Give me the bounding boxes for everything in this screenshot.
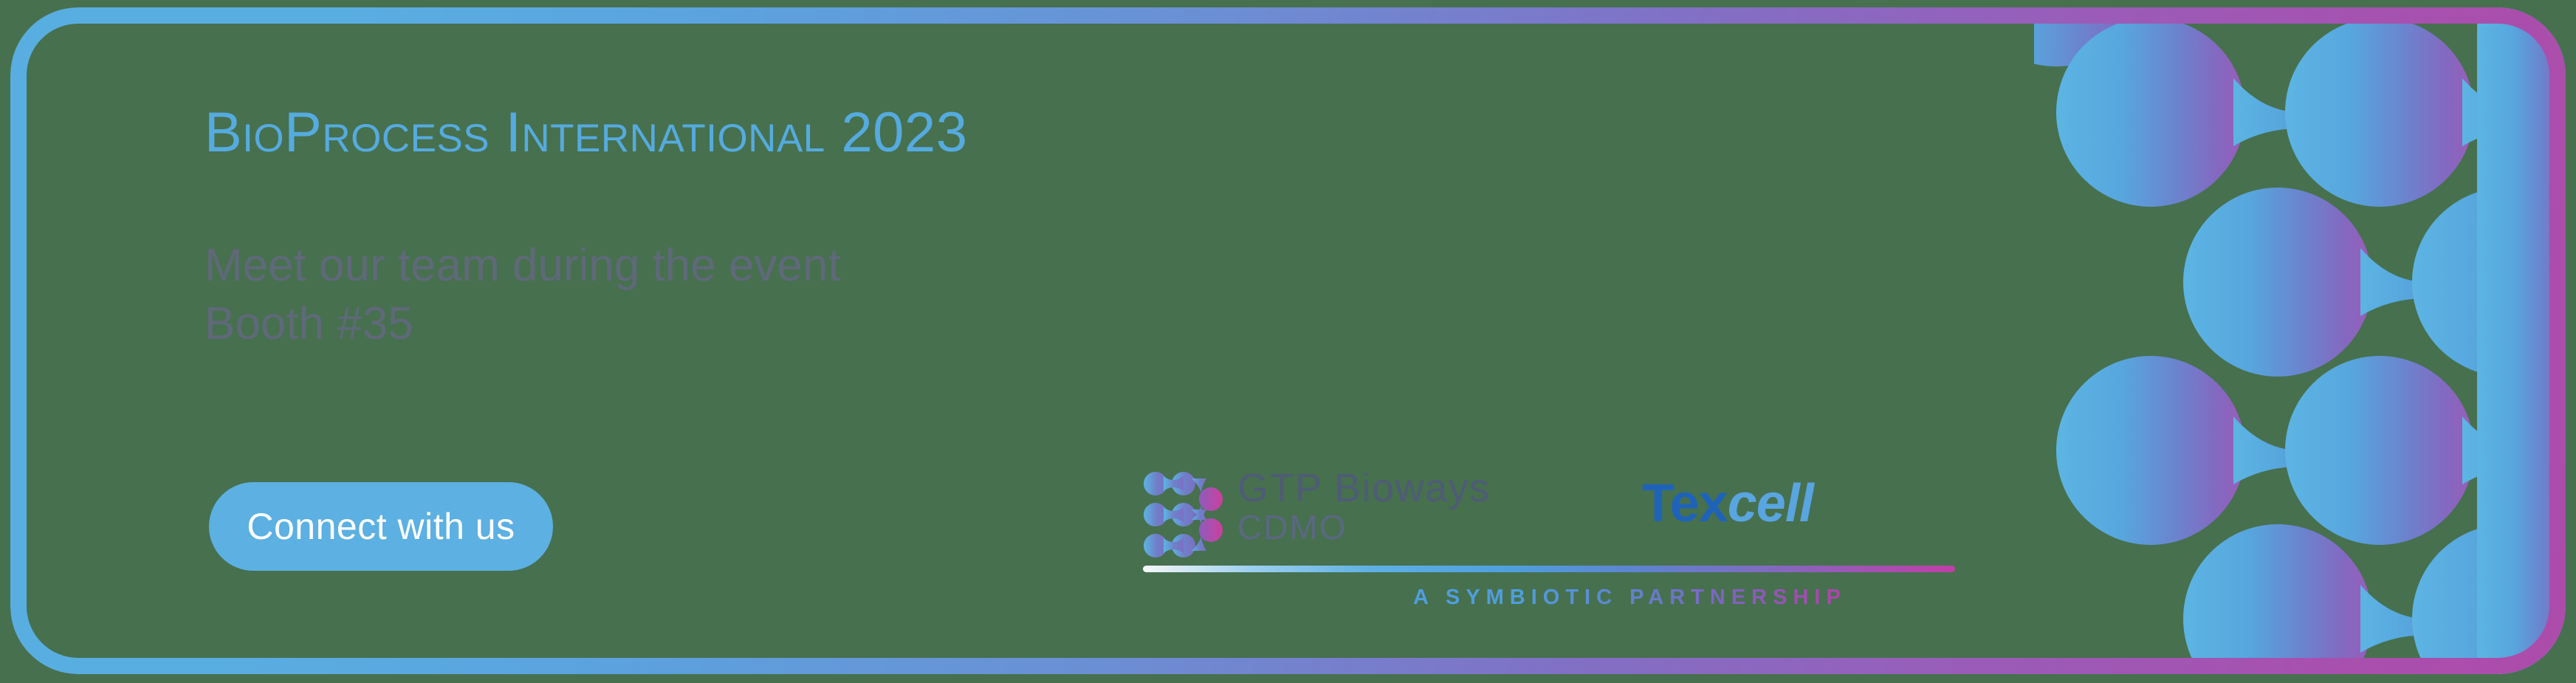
subtitle-line-2: Booth #35	[205, 295, 841, 353]
subtitle-line-1: Meet our team during the event	[205, 240, 841, 291]
logo-row: GTP Bioways CDMO Texcell	[1143, 471, 1962, 566]
gtp-name: GTP Bioways	[1237, 470, 1491, 507]
texcell-logo[interactable]: Texcell	[1642, 477, 1813, 530]
gtp-subtitle: CDMO	[1237, 510, 1491, 544]
gtp-bioways-logo[interactable]: GTP Bioways CDMO	[1143, 471, 1491, 558]
page-title: BioProcess International 2023	[205, 105, 967, 161]
connect-with-us-button[interactable]: Connect with us	[209, 482, 553, 571]
partner-logo-lockup: GTP Bioways CDMO Texcell A SYMBIOTIC PAR…	[1143, 471, 1962, 630]
molecule-icon	[1143, 471, 1226, 558]
gtp-wordmark: GTP Bioways CDMO	[1237, 470, 1491, 544]
subtitle-block: Meet our team during the event Booth #35	[205, 236, 841, 354]
promo-banner: BioProcess International 2023 Meet our t…	[0, 0, 2576, 683]
molecule-pattern-svg	[2034, 7, 2566, 674]
gradient-divider	[1143, 566, 1955, 572]
molecule-pattern	[2034, 7, 2566, 674]
partnership-tagline: A SYMBIOTIC PARTNERSHIP	[1413, 586, 1847, 610]
texcell-part-2: cell	[1728, 474, 1813, 533]
texcell-part-1: Tex	[1642, 474, 1728, 533]
